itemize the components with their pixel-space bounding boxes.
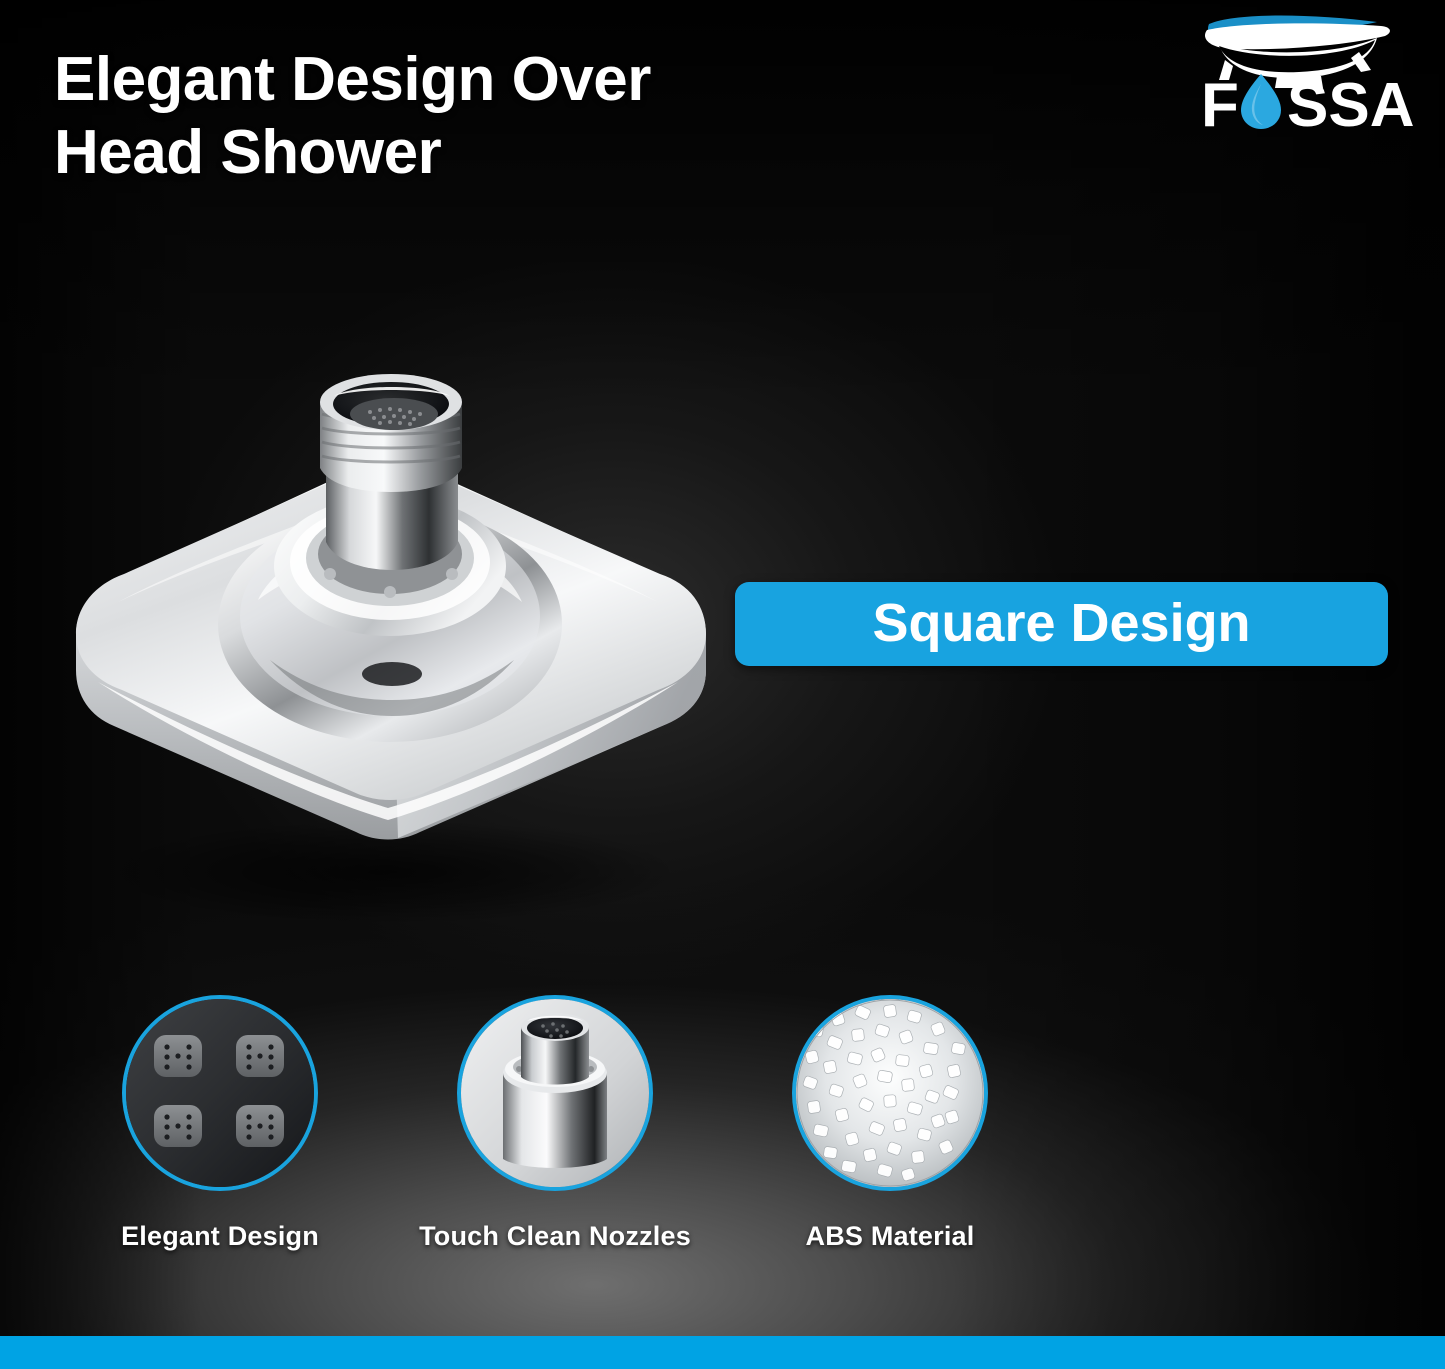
nozzle-pads-icon bbox=[126, 999, 314, 1187]
brand-letters-ssa: SSA bbox=[1287, 71, 1413, 134]
feature-strip: Elegant Design bbox=[0, 995, 1445, 1305]
square-design-badge: Square Design bbox=[735, 582, 1388, 666]
abs-pellets-icon bbox=[796, 999, 984, 1187]
feature-item-elegant-design: Elegant Design bbox=[55, 995, 385, 1252]
chrome-inlet-fitting-icon bbox=[461, 999, 649, 1187]
badge-label: Square Design bbox=[872, 596, 1250, 650]
feature-label: ABS Material bbox=[725, 1221, 1055, 1252]
feature-image-circle bbox=[457, 995, 653, 1191]
feature-label: Touch Clean Nozzles bbox=[390, 1221, 720, 1252]
feature-item-touch-clean-nozzles: Touch Clean Nozzles bbox=[390, 995, 720, 1252]
feature-item-abs-material: ABS Material bbox=[725, 995, 1055, 1252]
product-infographic: Elegant Design Over Head Shower F SSA bbox=[0, 0, 1445, 1369]
bottom-accent-bar bbox=[0, 1336, 1445, 1369]
product-image bbox=[58, 352, 718, 922]
brand-wordmark: F SSA bbox=[1201, 71, 1413, 134]
page-title: Elegant Design Over Head Shower bbox=[54, 44, 834, 189]
feature-label: Elegant Design bbox=[55, 1221, 385, 1252]
brand-letter-f: F bbox=[1201, 71, 1239, 134]
water-drop-icon bbox=[1241, 74, 1281, 129]
feature-image-circle bbox=[122, 995, 318, 1191]
feature-image-circle bbox=[792, 995, 988, 1191]
brand-logo: F SSA bbox=[1195, 8, 1413, 134]
